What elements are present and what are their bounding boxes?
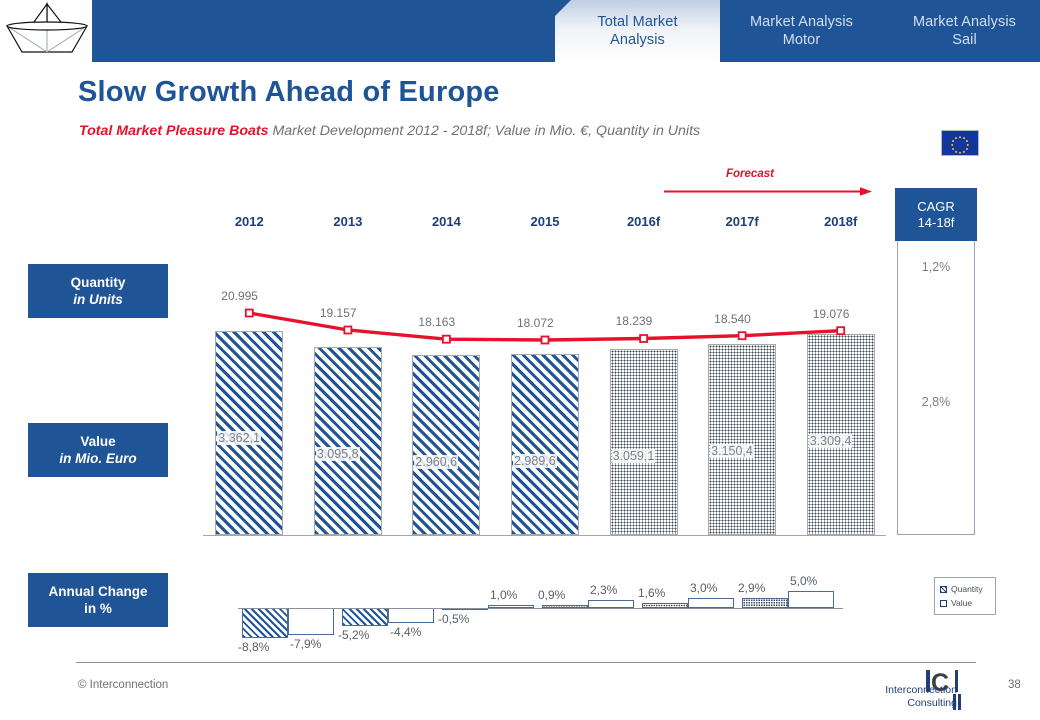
legend-swatch-quantity-icon [940,586,947,593]
change-bar-value-2018f [788,591,834,608]
interconnection-consulting-logo: C Interconnection Consulting [868,668,973,714]
tab-total-market-analysis[interactable]: Total Market Analysis [555,0,720,62]
label-annual-change-line1: Annual Change [48,583,147,600]
label-quantity-line1: Quantity [71,274,126,291]
subtitle-rest: Market Development 2012 - 2018f; Value i… [269,123,701,139]
value-bar-label-2017f: 3.150,4 [710,444,754,458]
value-bar-label-2014: 2.960,6 [414,455,458,469]
cagr-header: CAGR 14-18f [895,188,977,241]
paper-boat-logo [0,0,92,62]
change-bar-value-2013 [288,608,334,635]
label-quantity-line2: in Units [73,291,123,308]
label-value-line1: Value [80,433,115,450]
annual-change-zero-line [238,608,843,609]
change-bar-value-2016f [588,600,634,608]
label-value-line2: in Mio. Euro [59,450,136,467]
footer-divider [76,662,976,663]
legend-label-value: Value [951,596,972,610]
change-label-value-2013: -7,9% [290,637,321,651]
ic-logo-line1: Interconnection [867,684,957,696]
value-bar-label-2012: 3.362,1 [217,431,261,445]
tab-market-analysis-motor[interactable]: Market Analysis Motor [720,0,883,62]
value-bar-label-2015: 2.989,6 [513,454,557,468]
quantity-label-2013: 19.157 [320,306,357,320]
value-bar-2016f [610,349,678,535]
tab-market-analysis-sail-line1: Market Analysis [913,13,1016,31]
value-bar-2015 [511,354,579,535]
quantity-label-2017f: 18.540 [714,312,751,326]
label-annual-change-line2: in % [84,600,112,617]
change-bar-value-2017f [688,598,734,608]
change-label-value-2015: 1,0% [490,588,517,602]
value-bar-2017f [708,344,776,535]
ic-logo-line2: Consulting [867,697,957,709]
annual-change-chart: -8,8%-7,9%-5,2%-4,4%-0,5%1,0%0,9%2,3%1,6… [200,560,890,640]
cagr-box [897,190,975,535]
legend-swatch-value-icon [940,600,947,607]
tab-market-analysis-motor-line1: Market Analysis [750,13,853,31]
tab-total-market-analysis-line1: Total Market [597,13,677,31]
chart-plot: 3.362,13.095,82.960,62.989,63.059,13.150… [200,170,890,540]
eu-flag-icon [941,130,979,156]
slide: Total Market Analysis Market Analysis Mo… [0,0,1040,720]
value-bar-label-2013: 3.095,8 [316,447,360,461]
chart-legend: Quantity Value [934,577,996,615]
quantity-label-2014: 18.163 [418,315,455,329]
change-label-value-2014: -4,4% [390,625,421,639]
change-label-quantity-2018f: 2,9% [738,581,765,595]
chart-baseline [203,535,886,536]
cagr-value-value: 2,8% [897,395,975,409]
cagr-header-line2: 14-18f [918,215,955,231]
legend-item-quantity: Quantity [940,582,991,596]
value-bar-2014 [412,355,480,535]
change-label-value-2018f: 5,0% [790,574,817,588]
cagr-quantity-value: 1,2% [897,260,975,274]
tab-market-analysis-sail-line2: Sail [913,31,1016,49]
quantity-label-2012: 20.995 [221,289,258,303]
page-subtitle: Total Market Pleasure Boats Market Devel… [79,123,700,139]
tab-market-analysis-motor-line2: Motor [750,31,853,49]
value-bar-2013 [314,347,382,535]
change-bar-quantity-2018f [742,598,788,608]
page-title: Slow Growth Ahead of Europe [78,76,500,109]
change-label-quantity-2013: -8,8% [238,640,269,654]
value-bar-label-2016f: 3.059,1 [612,449,656,463]
tab-market-analysis-sail[interactable]: Market Analysis Sail [883,0,1040,62]
subtitle-highlight: Total Market Pleasure Boats [79,123,269,139]
label-annual-change: Annual Change in % [28,573,168,627]
change-label-value-2017f: 3,0% [690,581,717,595]
change-label-quantity-2015: -0,5% [438,612,469,626]
change-label-value-2016f: 2,3% [590,583,617,597]
footer-copyright: © Interconnection [78,679,168,691]
tab-total-market-analysis-line2: Analysis [597,31,677,49]
change-bar-quantity-2013 [242,608,288,638]
quantity-label-2016f: 18.239 [616,314,653,328]
legend-item-value: Value [940,596,991,610]
change-label-quantity-2014: -5,2% [338,628,369,642]
change-label-quantity-2017f: 1,6% [638,586,665,600]
change-bar-quantity-2014 [342,608,388,626]
legend-label-quantity: Quantity [951,582,983,596]
label-value: Value in Mio. Euro [28,423,168,477]
footer-page-number: 38 [1008,679,1021,691]
label-quantity: Quantity in Units [28,264,168,318]
change-label-quantity-2016f: 0,9% [538,588,565,602]
value-bar-label-2018f: 3.309,4 [809,434,853,448]
change-bar-value-2014 [388,608,434,623]
cagr-header-line1: CAGR [917,199,955,215]
quantity-label-2015: 18.072 [517,316,554,330]
quantity-label-2018f: 19.076 [813,307,850,321]
